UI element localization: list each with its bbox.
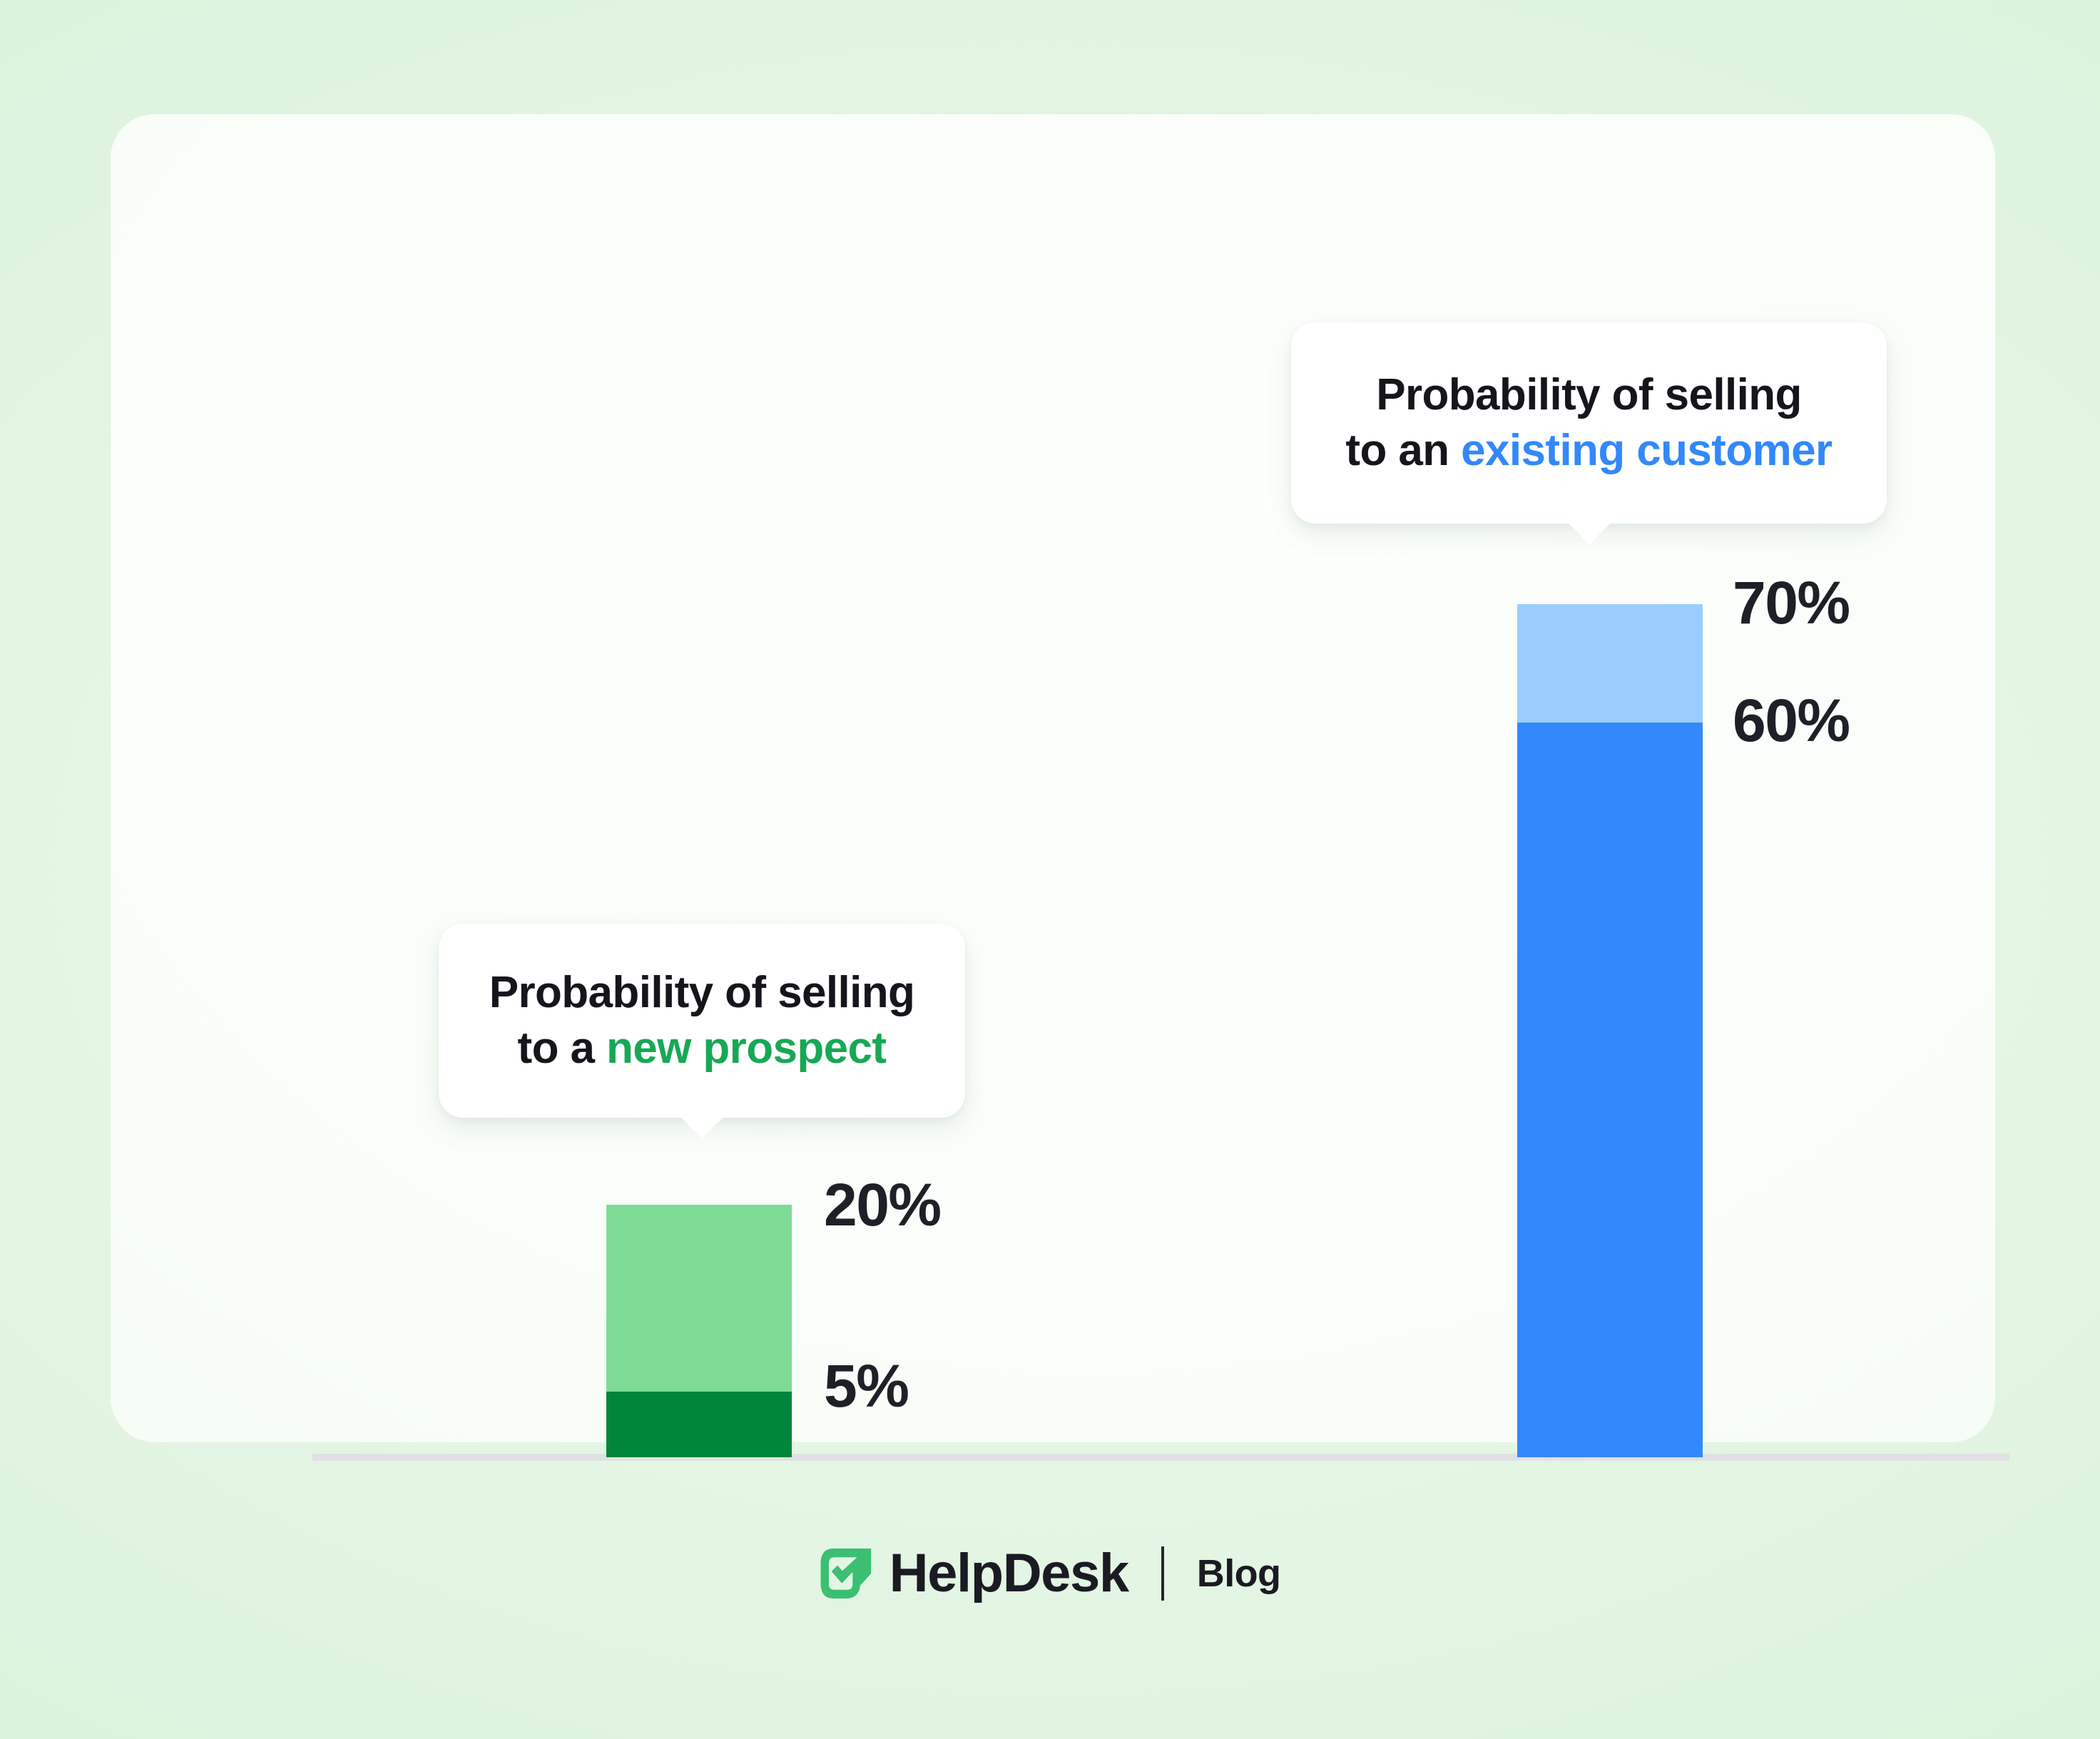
- value-label-existing-customer-low: 60%: [1733, 690, 1850, 750]
- value-label-new-prospect-low: 5%: [824, 1356, 908, 1416]
- bar-segment-existing-customer-upper: [1517, 604, 1703, 723]
- infographic-page: { "chart_data": { "type": "bar", "title"…: [0, 0, 2100, 1739]
- annotation-line2-accent-new: new prospect: [606, 1024, 886, 1073]
- brand-section-label: Blog: [1197, 1554, 1281, 1593]
- callout-tail-new-prospect: [681, 1117, 723, 1138]
- value-label-existing-customer-high: 70%: [1733, 573, 1850, 633]
- annotation-line2-plain-new: to a: [518, 1024, 606, 1073]
- annotation-line1-new: Probability of selling: [489, 968, 915, 1017]
- annotation-callout-new-prospect: Probability of selling to a new prospect: [439, 924, 965, 1118]
- annotation-line1-existing: Probability of selling: [1376, 370, 1802, 419]
- annotation-line2-accent-existing: existing customer: [1461, 426, 1832, 475]
- annotation-text-new-prospect: Probability of selling to a new prospect: [465, 965, 939, 1076]
- callout-tail-existing-customer: [1568, 523, 1611, 544]
- value-label-new-prospect-high: 20%: [824, 1175, 941, 1235]
- annotation-line2-plain-existing: to an: [1345, 426, 1461, 475]
- bar-new-prospect: [606, 1205, 792, 1457]
- chart-card: 20% 5% 70% 60% Probability of selling to…: [111, 114, 1995, 1442]
- chart-baseline-axis: [312, 1454, 2009, 1461]
- annotation-callout-existing-customer: Probability of selling to an existing cu…: [1291, 322, 1887, 524]
- bar-existing-customer: [1517, 604, 1703, 1457]
- bar-segment-new-prospect-lower: [606, 1392, 792, 1457]
- brand-divider: [1161, 1546, 1164, 1601]
- bar-segment-new-prospect-upper: [606, 1205, 792, 1392]
- bar-segment-existing-customer-lower: [1517, 723, 1703, 1457]
- annotation-text-existing-customer: Probability of selling to an existing cu…: [1321, 367, 1856, 479]
- helpdesk-wordmark: HelpDesk: [890, 1546, 1128, 1601]
- brand-footer: HelpDesk Blog: [0, 1546, 2100, 1601]
- helpdesk-check-logo-icon: [820, 1546, 874, 1601]
